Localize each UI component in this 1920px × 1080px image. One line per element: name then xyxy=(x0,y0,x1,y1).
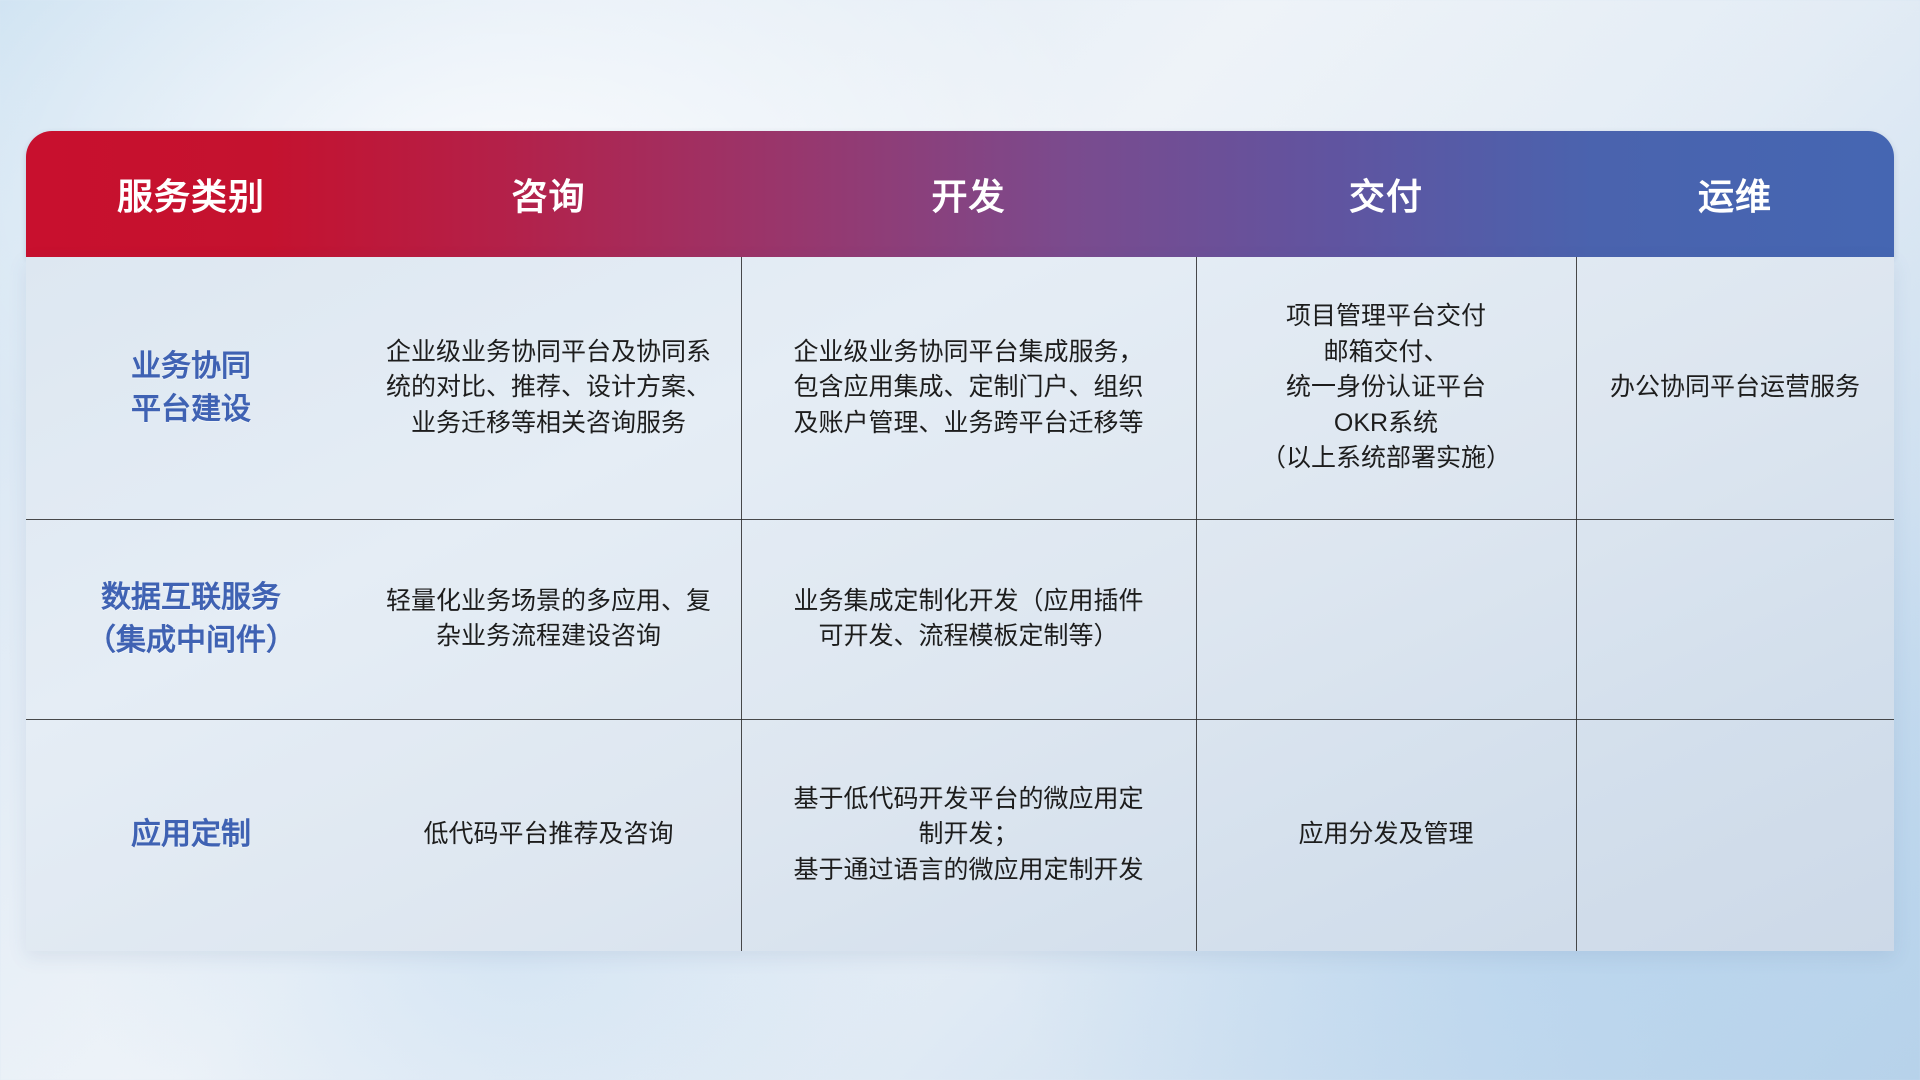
column-header-category-label: 服务类别 xyxy=(117,176,265,217)
column-header-development: 开发 xyxy=(741,168,1196,220)
column-divider xyxy=(1576,719,1577,951)
cell-consulting-row3: 低代码平台推荐及咨询 xyxy=(356,719,741,951)
row-label-business-collaboration: 业务协同 平台建设 xyxy=(26,257,356,519)
column-header-delivery: 交付 xyxy=(1196,168,1576,220)
cell-delivery-row3: 应用分发及管理 xyxy=(1196,719,1576,951)
cell-delivery-row2 xyxy=(1196,519,1576,719)
cell-operations-row1: 办公协同平台运营服务 xyxy=(1576,257,1894,519)
cell-text: 业务集成定制化开发（应用插件 可开发、流程模板定制等） xyxy=(793,584,1143,655)
column-divider xyxy=(1196,257,1197,519)
cell-development-row3: 基于低代码开发平台的微应用定 制开发； 基于通过语言的微应用定制开发 xyxy=(741,719,1196,951)
row-label-text: 应用定制 xyxy=(131,813,251,857)
table-header-row: 服务类别 咨询 开发 交付 运维 xyxy=(26,131,1894,257)
cell-development-row2: 业务集成定制化开发（应用插件 可开发、流程模板定制等） xyxy=(741,519,1196,719)
column-header-consulting: 咨询 xyxy=(356,168,741,220)
column-header-delivery-label: 交付 xyxy=(1349,176,1423,217)
column-header-operations: 运维 xyxy=(1576,168,1894,220)
cell-consulting-row2: 轻量化业务场景的多应用、复 杂业务流程建设咨询 xyxy=(356,519,741,719)
column-divider xyxy=(1576,257,1577,519)
cell-text: 企业级业务协同平台集成服务， 包含应用集成、定制门户、组织 及账户管理、业务跨平… xyxy=(793,335,1143,442)
table-row: 数据互联服务 （集成中间件） 轻量化业务场景的多应用、复 杂业务流程建设咨询 业… xyxy=(26,519,1894,719)
column-divider xyxy=(1196,719,1197,951)
column-divider xyxy=(741,257,742,519)
cell-text: 办公协同平台运营服务 xyxy=(1610,370,1860,406)
table-row: 应用定制 低代码平台推荐及咨询 基于低代码开发平台的微应用定 制开发； 基于通过… xyxy=(26,719,1894,951)
table-row: 业务协同 平台建设 企业级业务协同平台及协同系 统的对比、推荐、设计方案、 业务… xyxy=(26,257,1894,519)
cell-text: 基于低代码开发平台的微应用定 制开发； 基于通过语言的微应用定制开发 xyxy=(793,782,1143,889)
cell-text: 企业级业务协同平台及协同系 统的对比、推荐、设计方案、 业务迁移等相关咨询服务 xyxy=(386,335,711,442)
cell-operations-row2 xyxy=(1576,519,1894,719)
service-matrix-table: 服务类别 咨询 开发 交付 运维 业务协同 平台建设 企业级业务协同平台及协同系… xyxy=(26,131,1894,951)
column-header-consulting-label: 咨询 xyxy=(511,176,585,217)
cell-text: 低代码平台推荐及咨询 xyxy=(423,817,673,853)
cell-text: 应用分发及管理 xyxy=(1298,817,1473,853)
cell-text: 项目管理平台交付 邮箱交付、 统一身份认证平台 OKR系统 （以上系统部署实施） xyxy=(1261,299,1511,477)
cell-delivery-row1: 项目管理平台交付 邮箱交付、 统一身份认证平台 OKR系统 （以上系统部署实施） xyxy=(1196,257,1576,519)
column-header-development-label: 开发 xyxy=(931,176,1005,217)
column-divider xyxy=(741,519,742,719)
column-divider xyxy=(1576,519,1577,719)
row-label-app-customization: 应用定制 xyxy=(26,719,356,951)
column-header-operations-label: 运维 xyxy=(1698,176,1772,217)
row-label-data-interconnect: 数据互联服务 （集成中间件） xyxy=(26,519,356,719)
column-header-category: 服务类别 xyxy=(26,168,356,220)
column-divider xyxy=(1196,519,1197,719)
cell-operations-row3 xyxy=(1576,719,1894,951)
cell-text: 轻量化业务场景的多应用、复 杂业务流程建设咨询 xyxy=(386,584,711,655)
table-body: 业务协同 平台建设 企业级业务协同平台及协同系 统的对比、推荐、设计方案、 业务… xyxy=(26,257,1894,951)
column-divider xyxy=(741,719,742,951)
row-label-text: 数据互联服务 （集成中间件） xyxy=(86,576,296,663)
cell-consulting-row1: 企业级业务协同平台及协同系 统的对比、推荐、设计方案、 业务迁移等相关咨询服务 xyxy=(356,257,741,519)
row-label-text: 业务协同 平台建设 xyxy=(131,345,251,432)
cell-development-row1: 企业级业务协同平台集成服务， 包含应用集成、定制门户、组织 及账户管理、业务跨平… xyxy=(741,257,1196,519)
